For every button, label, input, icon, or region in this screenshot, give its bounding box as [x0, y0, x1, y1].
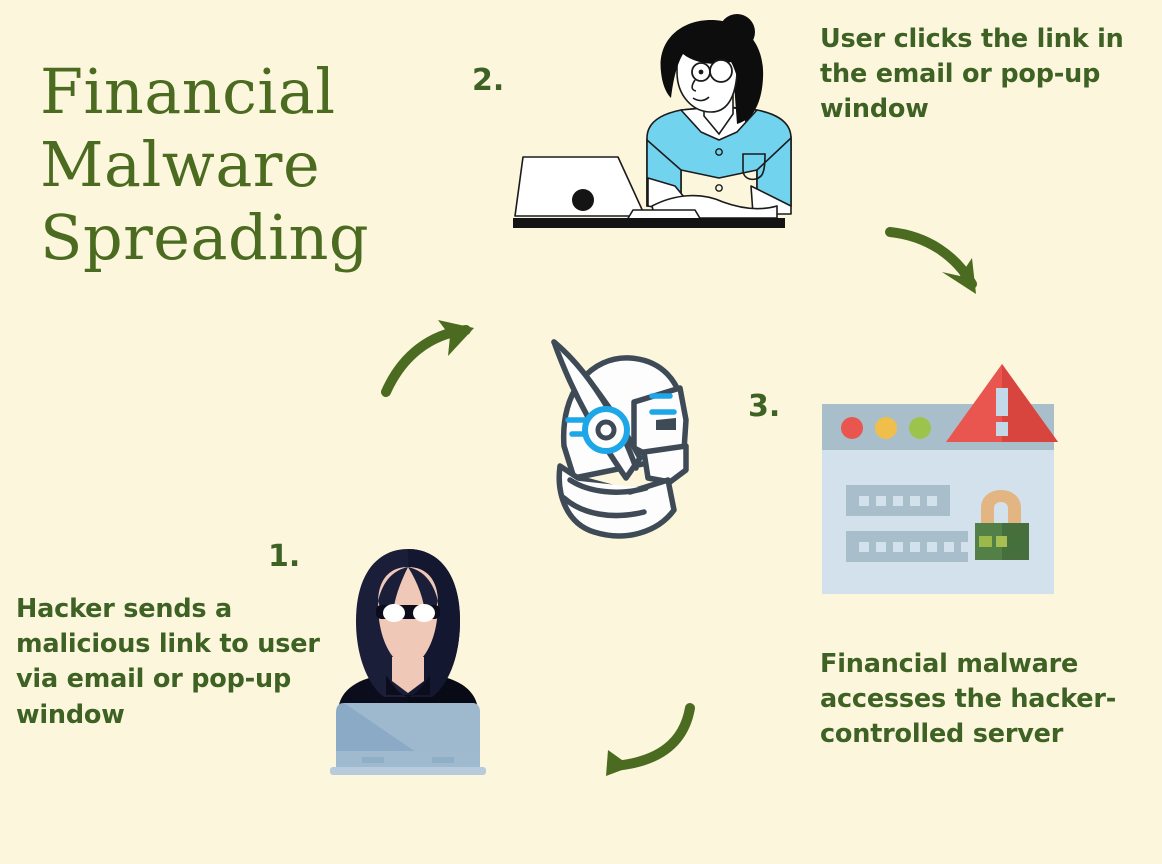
illustration-browser-window	[818, 358, 1068, 612]
page-title: Financial Malware Spreading	[40, 55, 460, 274]
step-caption-2: User clicks the link in the email or pop…	[820, 22, 1140, 128]
step-number-3: 3.	[748, 389, 780, 424]
arrow-browser-to-hacker-icon	[598, 700, 703, 784]
arrow-hacker-to-helmet-icon	[378, 312, 488, 406]
illustration-woman-at-laptop	[505, 10, 795, 244]
step-number-1: 1.	[268, 539, 300, 574]
arrow-user-to-browser-icon	[884, 218, 989, 307]
illustration-hooded-hacker	[328, 545, 488, 789]
warning-triangle-icon	[946, 364, 1058, 442]
traffic-light-yellow	[875, 417, 897, 439]
illustration-trojan-helmet	[534, 328, 706, 550]
step-caption-1: Hacker sends a malicious link to user vi…	[16, 592, 336, 733]
traffic-light-red	[841, 417, 863, 439]
step-number-2: 2.	[472, 63, 504, 98]
step-caption-3: Financial malware accesses the hacker-co…	[820, 647, 1140, 753]
infographic-canvas: Financial Malware Spreading 1. 2. 3. Use…	[0, 0, 1162, 864]
traffic-light-green	[909, 417, 931, 439]
